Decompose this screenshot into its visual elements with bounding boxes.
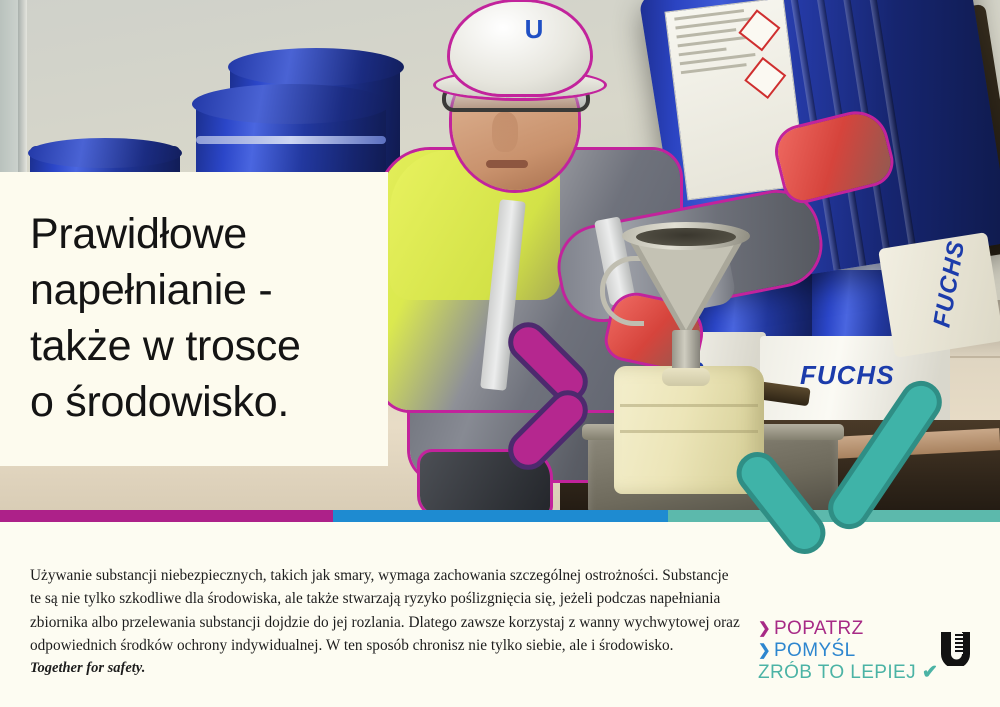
slogan-label-zrob-to-lepiej: ZRÓB TO LEPIEJ [758,662,916,684]
divider-segment-blue [333,510,668,522]
checkmark-graphic-teal [726,424,946,564]
check-icon: ✔ [922,662,938,684]
funnel-opening [636,228,736,246]
slogan-row-1: ❯ POPATRZ [758,618,938,640]
body-paragraph: Używanie substancji niebezpiecznych, tak… [30,564,740,657]
wall-corner-left [0,0,20,175]
jerrycan-ridge [620,404,758,407]
divider-segment-magenta [0,510,333,522]
slogan-label-popatrz: POPATRZ [774,618,864,640]
helmet-logo-letter: U [520,14,548,44]
safety-poster: FUCHS FUCHS FUCHS [0,0,1000,707]
worker-mouth [486,160,528,168]
headline-line-4: o środowisko. [30,375,301,431]
brand-logo-u [938,630,972,666]
slogan-row-2: ❯ POMYŚL [758,640,938,662]
drum-top-ellipse [28,138,182,168]
drum-rim [196,136,386,144]
check-stroke-short [728,444,834,563]
page-title: Prawidłowe napełnianie - także w trosce … [30,207,301,431]
wall-edge-highlight [18,0,27,175]
headline-line-1: Prawidłowe [30,207,301,263]
drum-brand-text: FUCHS [800,360,895,391]
worker-nose [492,112,518,152]
funnel-collar [662,368,710,386]
slogan-label-pomysl: POMYŚL [774,640,856,662]
tagline: Together for safety. [30,660,145,677]
chevron-right-icon: ❯ [758,642,771,659]
headline-line-3: także w trosce [30,319,301,375]
slogan-row-3: ZRÓB TO LEPIEJ ✔ [758,662,938,684]
chevron-graphic-magenta [498,338,602,464]
headline-card: Prawidłowe napełnianie - także w trosce … [0,172,388,466]
chevron-stroke-lower [500,382,596,478]
brand-logo-u-svg [938,630,972,666]
slogan-block: ❯ POPATRZ ❯ POMYŚL ZRÓB TO LEPIEJ ✔ [758,618,938,684]
headline-line-2: napełnianie - [30,263,301,319]
chevron-right-icon: ❯ [758,620,771,637]
